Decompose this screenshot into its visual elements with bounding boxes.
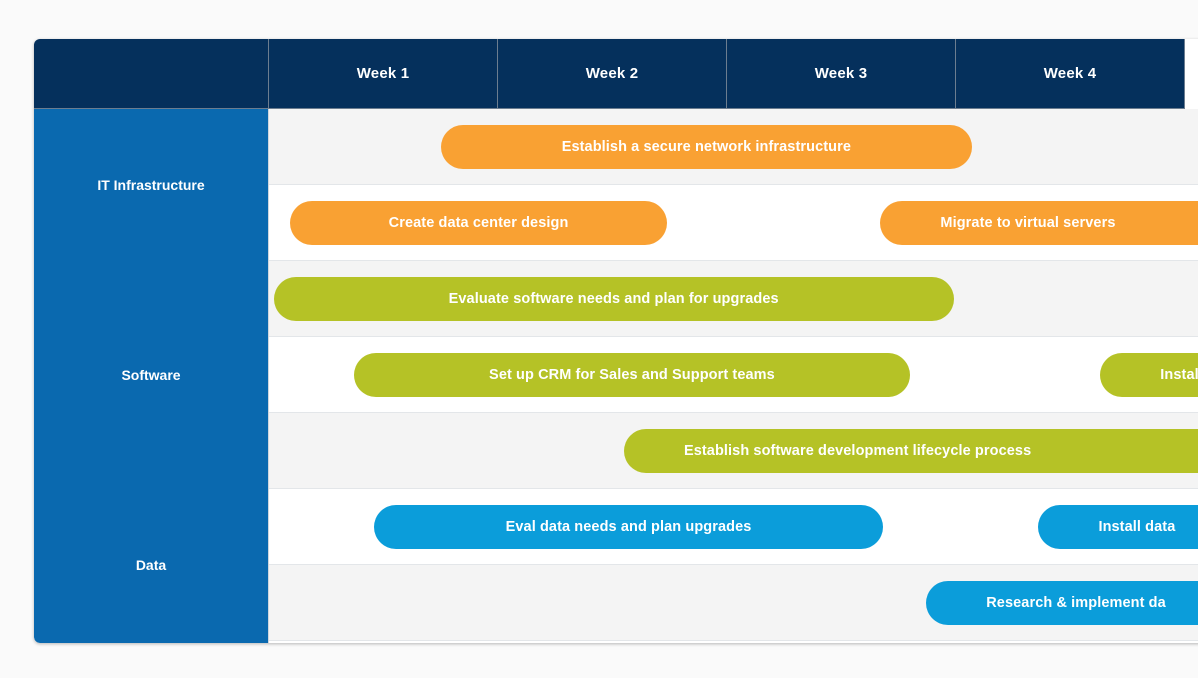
gantt-bar[interactable]: Install data	[1038, 505, 1198, 549]
header-week-2: Week 2	[498, 39, 727, 109]
header-corner-cell	[34, 39, 269, 109]
gantt-bar-label: Research & implement da	[986, 595, 1166, 611]
gantt-bar-label: Eval data needs and plan upgrades	[506, 519, 752, 535]
category-label-data: Data	[34, 489, 268, 641]
gantt-bar[interactable]: Migrate to virtual servers	[880, 201, 1198, 245]
category-label-text: IT Infrastructure	[97, 177, 204, 193]
gantt-bar[interactable]: Install	[1100, 353, 1198, 397]
gantt-chart: Week 1 Week 2 Week 3 Week 4 IT Infrastru…	[34, 39, 1198, 643]
category-label-text: Data	[136, 557, 166, 573]
gantt-bar-label: Install	[1160, 367, 1198, 383]
gantt-bar[interactable]: Evaluate software needs and plan for upg…	[274, 277, 954, 321]
gantt-bar-label: Migrate to virtual servers	[940, 215, 1115, 231]
gantt-bar[interactable]: Establish software development lifecycle…	[624, 429, 1198, 473]
category-column: IT InfrastructureSoftwareData	[34, 109, 269, 643]
category-label-it-infrastructure: IT Infrastructure	[34, 109, 268, 261]
header-week-4: Week 4	[956, 39, 1185, 109]
gantt-header-row: Week 1 Week 2 Week 3 Week 4	[34, 39, 1198, 109]
gantt-grid: Establish a secure network infrastructur…	[269, 109, 1198, 643]
gantt-bar[interactable]: Create data center design	[290, 201, 668, 245]
category-label-software: Software	[34, 261, 268, 489]
header-week-1: Week 1	[269, 39, 498, 109]
header-week-3: Week 3	[727, 39, 956, 109]
gantt-bar-label: Set up CRM for Sales and Support teams	[489, 367, 775, 383]
gantt-bar-label: Establish software development lifecycle…	[684, 443, 1031, 459]
gantt-bar[interactable]: Eval data needs and plan upgrades	[374, 505, 882, 549]
gantt-bar[interactable]: Research & implement da	[926, 581, 1198, 625]
gantt-bar-label: Establish a secure network infrastructur…	[562, 139, 851, 155]
gantt-bar[interactable]: Establish a secure network infrastructur…	[441, 125, 972, 169]
gantt-bar-label: Create data center design	[389, 215, 569, 231]
gantt-bar[interactable]: Set up CRM for Sales and Support teams	[354, 353, 910, 397]
gantt-bar-label: Evaluate software needs and plan for upg…	[449, 291, 779, 307]
gantt-bar-label: Install data	[1098, 519, 1175, 535]
category-label-text: Software	[121, 367, 180, 383]
